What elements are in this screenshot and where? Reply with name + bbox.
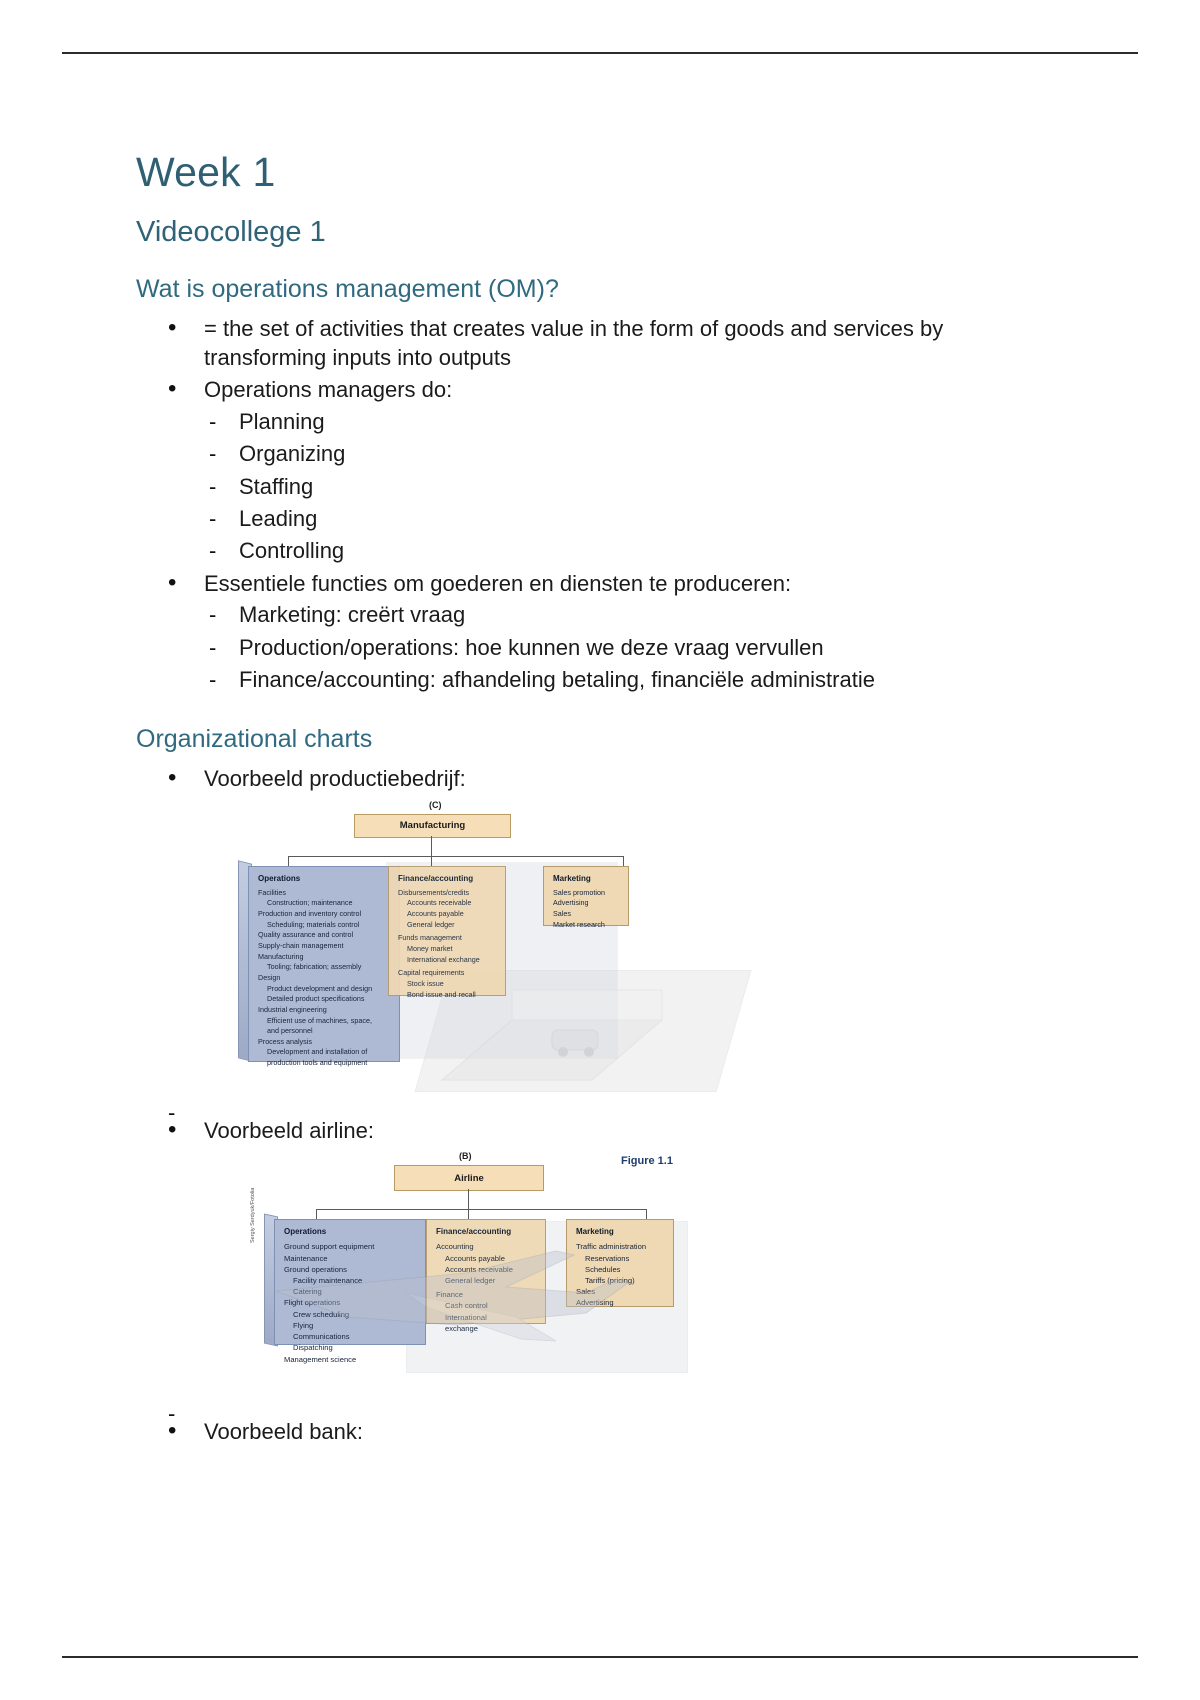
org-chart-manufacturing: (C) Manufacturing Operations Facilities … xyxy=(236,800,996,1100)
column-line: Dispatching xyxy=(284,1342,419,1353)
connector-drop-ops xyxy=(316,1209,317,1219)
column-line: Crew scheduling xyxy=(284,1309,419,1320)
column-line: Flight operations xyxy=(284,1297,419,1308)
bullet-list-om: = the set of activities that creates val… xyxy=(136,314,1016,696)
column-line: Sales xyxy=(576,1286,667,1297)
figure-manufacturing-wrapper: (C) Manufacturing Operations Facilities … xyxy=(136,800,1016,1100)
sub-list-item: Staffing xyxy=(204,472,1016,502)
column-line: Construction; maintenance xyxy=(258,898,393,909)
column-line: Accounts payable xyxy=(436,1253,539,1264)
connector-drop-fin xyxy=(468,1209,469,1219)
column-line: Accounts receivable xyxy=(398,898,499,909)
column-line: and personnel xyxy=(258,1026,393,1037)
section-heading-om: Wat is operations management (OM)? xyxy=(136,275,1016,304)
bullet-text: Voorbeeld bank: xyxy=(204,1417,1016,1447)
sub-list-item: Leading xyxy=(204,504,1016,534)
column-line: production tools and equipment xyxy=(258,1058,393,1069)
column-header: Finance/accounting xyxy=(436,1226,539,1238)
column-line: Process analysis xyxy=(258,1037,393,1048)
column-finance-accounting: Finance/accounting Disbursements/credits… xyxy=(388,866,506,996)
connector-horizontal xyxy=(288,856,623,857)
column-line: exchange xyxy=(436,1323,539,1334)
column-line: General ledger xyxy=(436,1275,539,1286)
connector-vertical-root xyxy=(468,1189,469,1209)
column-line: Ground support equipment xyxy=(284,1241,419,1252)
page-title: Week 1 xyxy=(136,150,1016,195)
list-item: Essentiele functies om goederen en diens… xyxy=(136,569,1016,696)
bullet-list-orgcharts: Voorbeeld productiebedrijf: xyxy=(136,764,1016,794)
column-line: Detailed product specifications xyxy=(258,994,393,1005)
sub-list-item: Planning xyxy=(204,407,1016,437)
photo-credit: Sergiy Serdyuk/Fotolia xyxy=(250,1188,256,1243)
column-line: International exchange xyxy=(398,955,499,966)
column-marketing: Marketing Traffic administration Reserva… xyxy=(566,1219,674,1307)
figure-airline-wrapper: (B) Figure 1.1 Airline Operations Ground… xyxy=(136,1151,1016,1401)
page-top-rule xyxy=(62,52,1138,54)
column-marketing: Marketing Sales promotion Advertising Sa… xyxy=(543,866,629,926)
column-line: Manufacturing xyxy=(258,952,393,963)
column-operations: Operations Ground support equipment Main… xyxy=(274,1219,426,1345)
connector-drop-mkt xyxy=(646,1209,647,1219)
bullet-text: Essentiele functies om goederen en diens… xyxy=(204,569,1016,599)
column-line: Funds management xyxy=(398,933,499,944)
column-header: Operations xyxy=(284,1226,419,1238)
bullet-list-orgcharts-3: Voorbeeld bank: xyxy=(136,1417,1016,1447)
column-line: Money market xyxy=(398,944,499,955)
column-line: Schedules xyxy=(576,1264,667,1275)
sub-list-item: Controlling xyxy=(204,536,1016,566)
connector-drop-fin xyxy=(431,856,432,866)
list-item: Voorbeeld airline: xyxy=(136,1116,1016,1146)
sub-bullet-list: Marketing: creërt vraag Production/opera… xyxy=(204,600,1016,695)
column-line: General ledger xyxy=(398,920,499,931)
column-line: Efficient use of machines, space, xyxy=(258,1016,393,1027)
column-line: Tooling; fabrication; assembly xyxy=(258,962,393,973)
column-line: Accounts payable xyxy=(398,909,499,920)
column-line: Flying xyxy=(284,1320,419,1331)
bullet-text: = the set of activities that creates val… xyxy=(204,314,1016,373)
column-line: Scheduling; materials control xyxy=(258,920,393,931)
connector-horizontal xyxy=(316,1209,646,1210)
bullet-list-orgcharts-2: Voorbeeld airline: xyxy=(136,1116,1016,1146)
column-line: Reservations xyxy=(576,1253,667,1264)
column-line: Sales promotion xyxy=(553,888,622,899)
column-header: Finance/accounting xyxy=(398,873,499,885)
column-line: Bond issue and recall xyxy=(398,990,499,1001)
column-header: Marketing xyxy=(576,1226,667,1238)
column-line: Ground operations xyxy=(284,1264,419,1275)
column-line: Catering xyxy=(284,1286,419,1297)
column-line: Market research xyxy=(553,920,622,931)
bullet-text: Operations managers do: xyxy=(204,375,1016,405)
page-subtitle: Videocollege 1 xyxy=(136,217,1016,249)
column-line: Communications xyxy=(284,1331,419,1342)
column-line: Facilities xyxy=(258,888,393,899)
column-finance-accounting: Finance/accounting Accounting Accounts p… xyxy=(426,1219,546,1324)
column-line: Advertising xyxy=(576,1297,667,1308)
column-line: International xyxy=(436,1312,539,1323)
column-line: Accounting xyxy=(436,1241,539,1252)
figure-number-label: Figure 1.1 xyxy=(621,1155,673,1167)
connector-drop-ops xyxy=(288,856,289,866)
column-line: Supply-chain management xyxy=(258,941,393,952)
column-line: Production and inventory control xyxy=(258,909,393,920)
column-line: Product development and design xyxy=(258,984,393,995)
column-line: Disbursements/credits xyxy=(398,888,499,899)
bullet-text: Voorbeeld productiebedrijf: xyxy=(204,764,1016,794)
page-bottom-rule xyxy=(62,1656,1138,1658)
column-line: Development and installation of xyxy=(258,1047,393,1058)
section-heading-orgcharts: Organizational charts xyxy=(136,725,1016,754)
column-operations: Operations Facilities Construction; main… xyxy=(248,866,400,1062)
root-node-airline: Airline xyxy=(394,1165,544,1191)
connector-vertical-root xyxy=(431,836,432,856)
column-line: Design xyxy=(258,973,393,984)
column-line: Tariffs (pricing) xyxy=(576,1275,667,1286)
root-node-manufacturing: Manufacturing xyxy=(354,814,511,838)
column-line: Industrial engineering xyxy=(258,1005,393,1016)
column-header: Operations xyxy=(258,873,393,885)
column-line: Maintenance xyxy=(284,1253,419,1264)
sub-list-item: Marketing: creërt vraag xyxy=(204,600,1016,630)
column-line: Stock issue xyxy=(398,979,499,990)
org-chart-airline: (B) Figure 1.1 Airline Operations Ground… xyxy=(246,1151,1006,1401)
column-line: Management science xyxy=(284,1354,419,1365)
list-item: = the set of activities that creates val… xyxy=(136,314,1016,373)
column-line: Quality assurance and control xyxy=(258,930,393,941)
list-item: Voorbeeld bank: xyxy=(136,1417,1016,1447)
column-line: Facility maintenance xyxy=(284,1275,419,1286)
column-line: Finance xyxy=(436,1289,539,1300)
document-page: Week 1 Videocollege 1 Wat is operations … xyxy=(0,0,1200,1700)
sub-bullet-list: Planning Organizing Staffing Leading Con… xyxy=(204,407,1016,567)
connector-drop-mkt xyxy=(623,856,624,866)
sub-list-item: Finance/accounting: afhandeling betaling… xyxy=(204,665,1016,695)
column-line: Accounts receivable xyxy=(436,1264,539,1275)
column-line: Capital requirements xyxy=(398,968,499,979)
sub-list-item: Production/operations: hoe kunnen we dez… xyxy=(204,633,1016,663)
page-content: Week 1 Videocollege 1 Wat is operations … xyxy=(136,150,1016,1449)
bullet-text: Voorbeeld airline: xyxy=(204,1116,1016,1146)
column-line: Advertising xyxy=(553,898,622,909)
column-line: Traffic administration xyxy=(576,1241,667,1252)
panel-letter: (C) xyxy=(429,800,442,810)
column-line: Sales xyxy=(553,909,622,920)
column-header: Marketing xyxy=(553,873,622,885)
list-item: Voorbeeld productiebedrijf: xyxy=(136,764,1016,794)
list-item: Operations managers do: Planning Organiz… xyxy=(136,375,1016,566)
column-line: Cash control xyxy=(436,1300,539,1311)
sub-list-item: Organizing xyxy=(204,439,1016,469)
panel-letter: (B) xyxy=(459,1151,472,1161)
